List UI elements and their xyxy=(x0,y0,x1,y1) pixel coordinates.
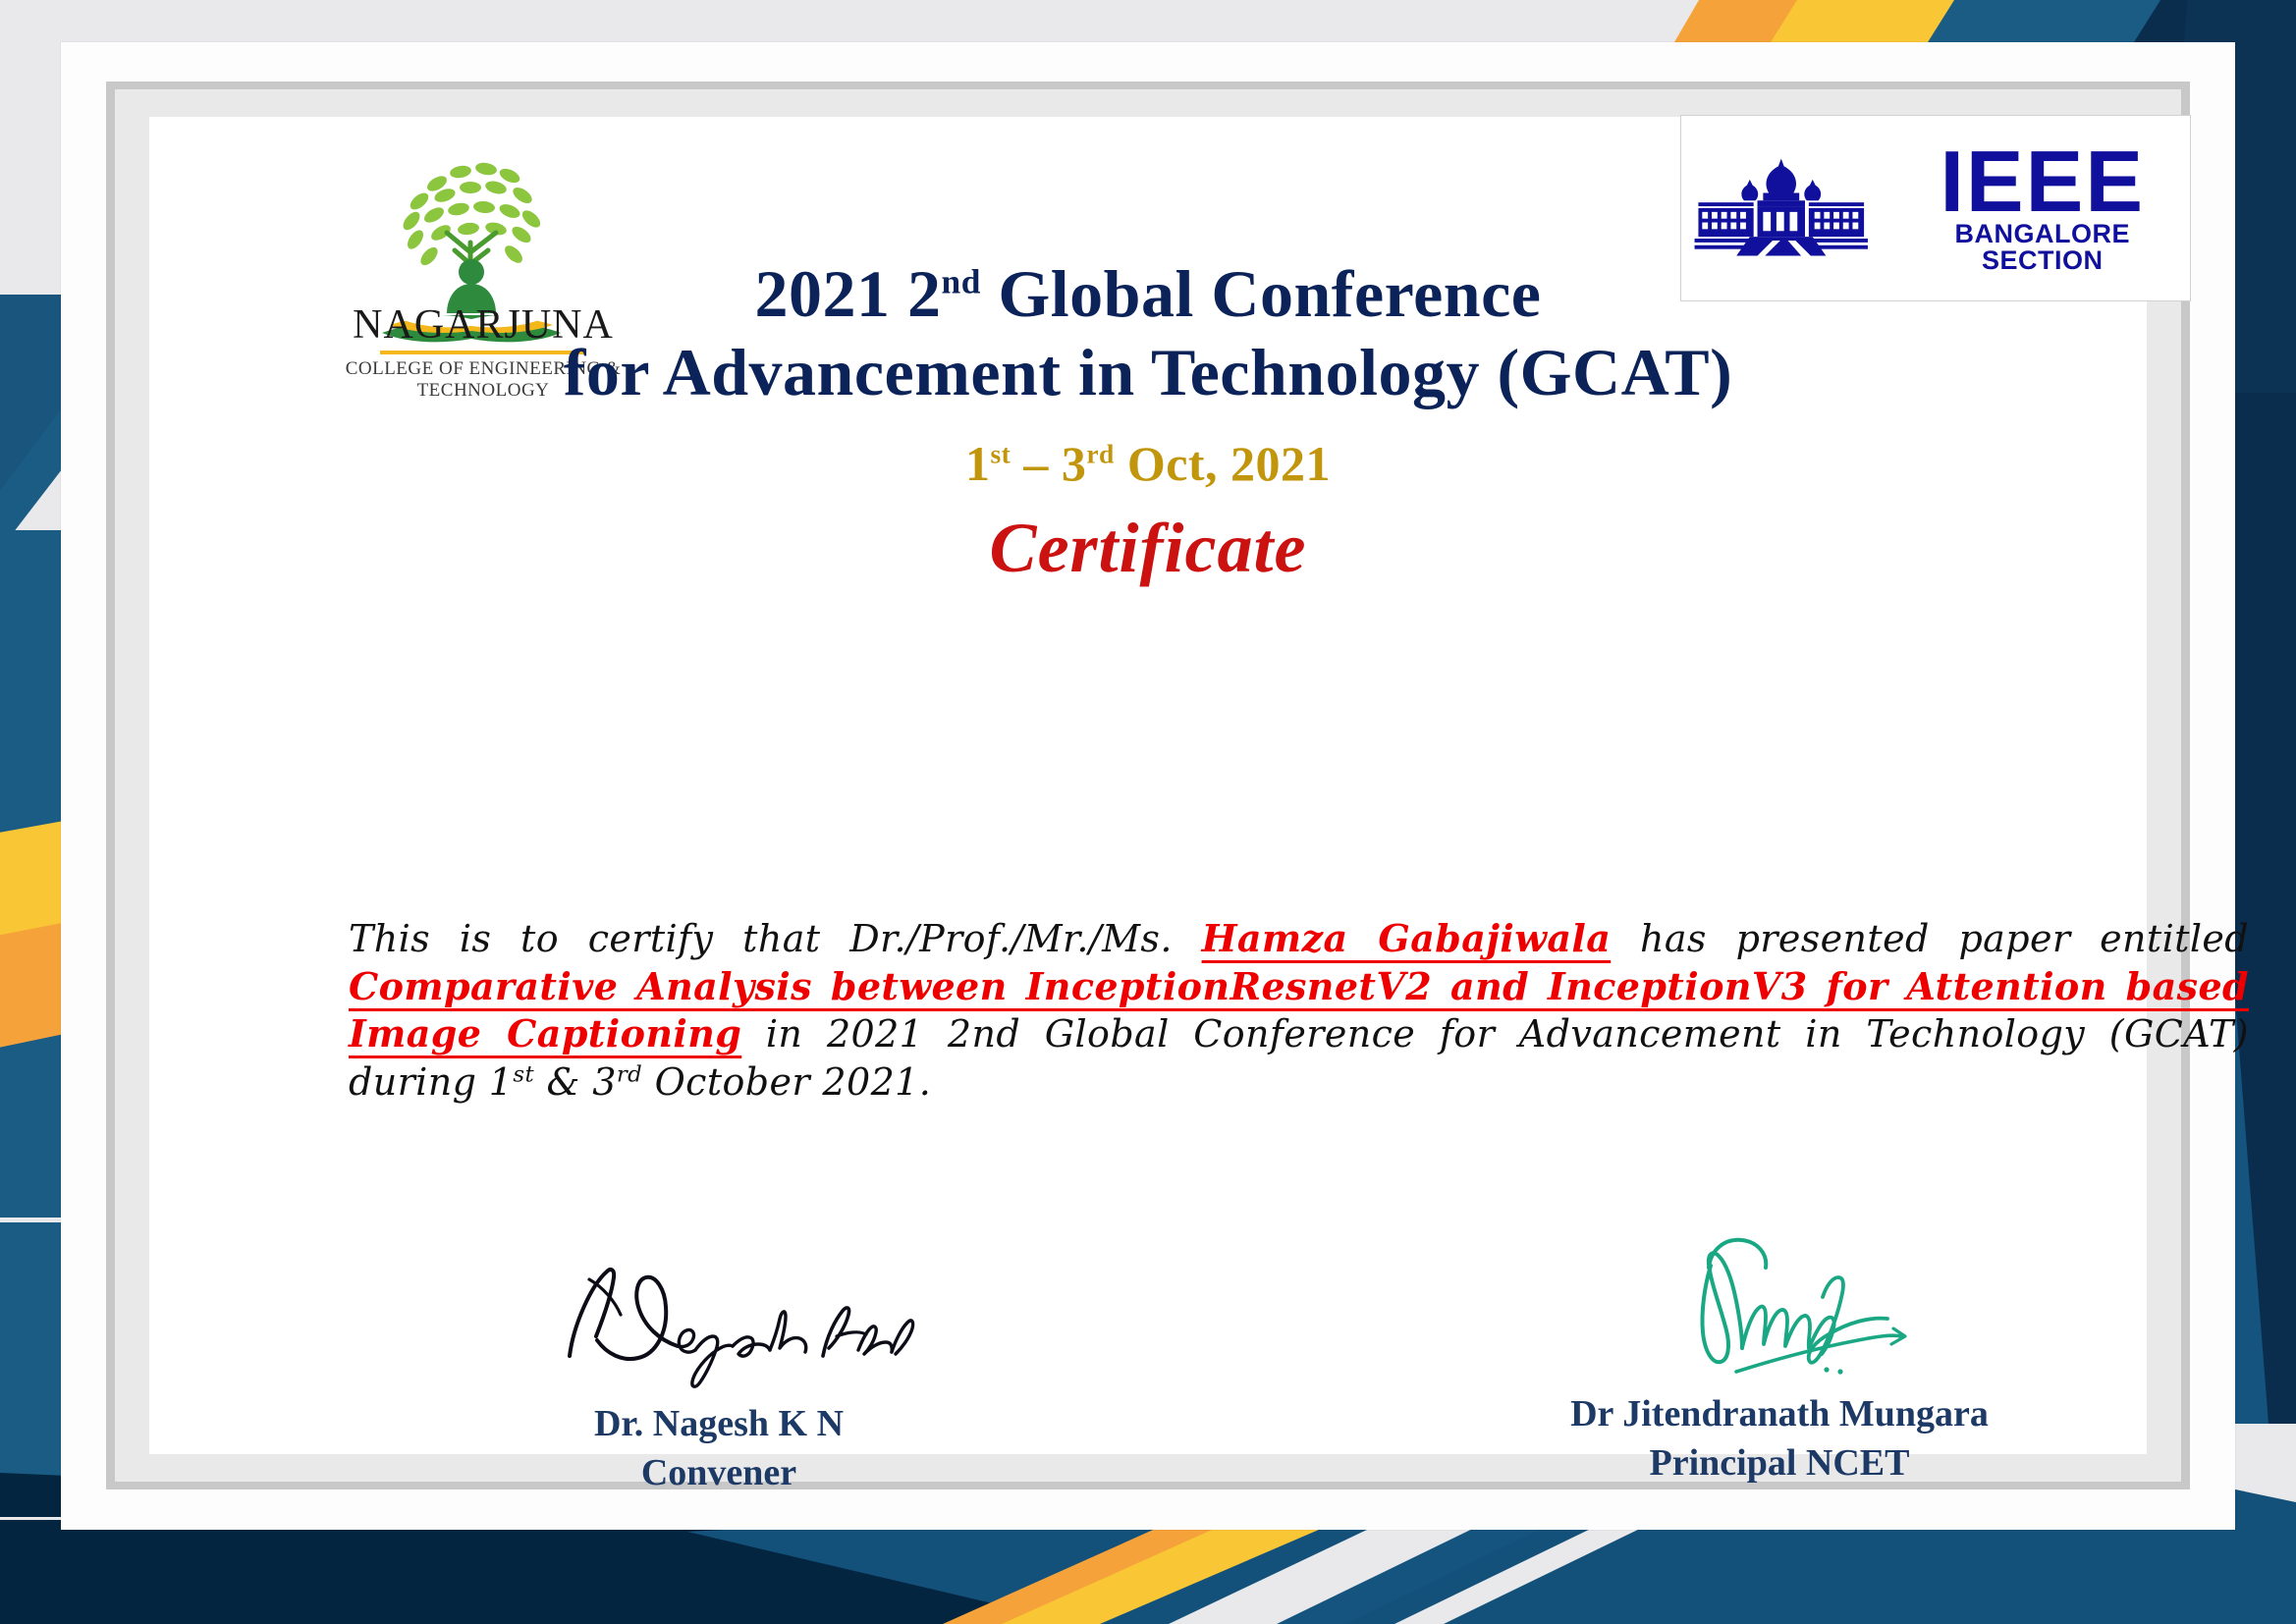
certificate-heading: Certificate xyxy=(149,508,2147,589)
body-intro: This is to certify that Dr./Prof./Mr./Ms… xyxy=(349,917,1202,960)
date-separator: – 3 xyxy=(1011,436,1086,491)
handwritten-signature-nagesh-icon xyxy=(513,1246,925,1393)
signature-image-right xyxy=(1475,1236,2084,1383)
conference-title-line-2: for Advancement in Technology (GCAT) xyxy=(149,333,2147,411)
body-date-ordinal-2: rd xyxy=(617,1061,642,1087)
handwritten-signature-jitendranath-icon xyxy=(1563,1226,1995,1383)
signatory-role-right: Principal NCET xyxy=(1475,1438,2084,1488)
title-line1-prefix: 2021 2 xyxy=(755,256,942,331)
certificate-body-text: This is to certify that Dr./Prof./Mr./Ms… xyxy=(349,915,2249,1107)
certificate-panel: NAGARJUNA COLLEGE OF ENGINEERING & TECHN… xyxy=(149,117,2147,1454)
body-date-tail: October 2021. xyxy=(642,1060,931,1104)
title-block: 2021 2nd Global Conference for Advanceme… xyxy=(149,254,2147,589)
signature-block-principal: Dr Jitendranath Mungara Principal NCET xyxy=(1475,1236,2084,1488)
title-line1-suffix: Global Conference xyxy=(981,256,1542,331)
signatory-name-left: Dr. Nagesh K N xyxy=(444,1399,994,1448)
vidhana-soudha-building-icon xyxy=(1681,149,1882,267)
body-date-joiner: & 3 xyxy=(534,1060,617,1104)
body-date-ordinal-1: st xyxy=(513,1061,534,1087)
recipient-name: Hamza Gabajiwala xyxy=(1202,916,1612,960)
date-day-1: 1 xyxy=(965,436,991,491)
signature-block-convener: Dr. Nagesh K N Convener xyxy=(444,1246,994,1497)
date-month-year: Oct, 2021 xyxy=(1115,436,1331,491)
body-mid: has presented paper entitled xyxy=(1611,917,2249,960)
title-line1-ordinal: nd xyxy=(942,261,981,300)
date-day-2-ordinal: rd xyxy=(1086,439,1115,469)
signatory-role-left: Convener xyxy=(444,1448,994,1497)
signatory-name-right: Dr Jitendranath Mungara xyxy=(1475,1389,2084,1438)
signature-image-left xyxy=(444,1246,994,1393)
ieee-wordmark: IEEE xyxy=(1940,142,2145,220)
date-day-1-ordinal: st xyxy=(990,439,1011,469)
certificate-page: NAGARJUNA COLLEGE OF ENGINEERING & TECHN… xyxy=(0,0,2296,1624)
conference-date: 1st – 3rd Oct, 2021 xyxy=(149,435,2147,492)
conference-title-line-1: 2021 2nd Global Conference xyxy=(149,254,2147,333)
